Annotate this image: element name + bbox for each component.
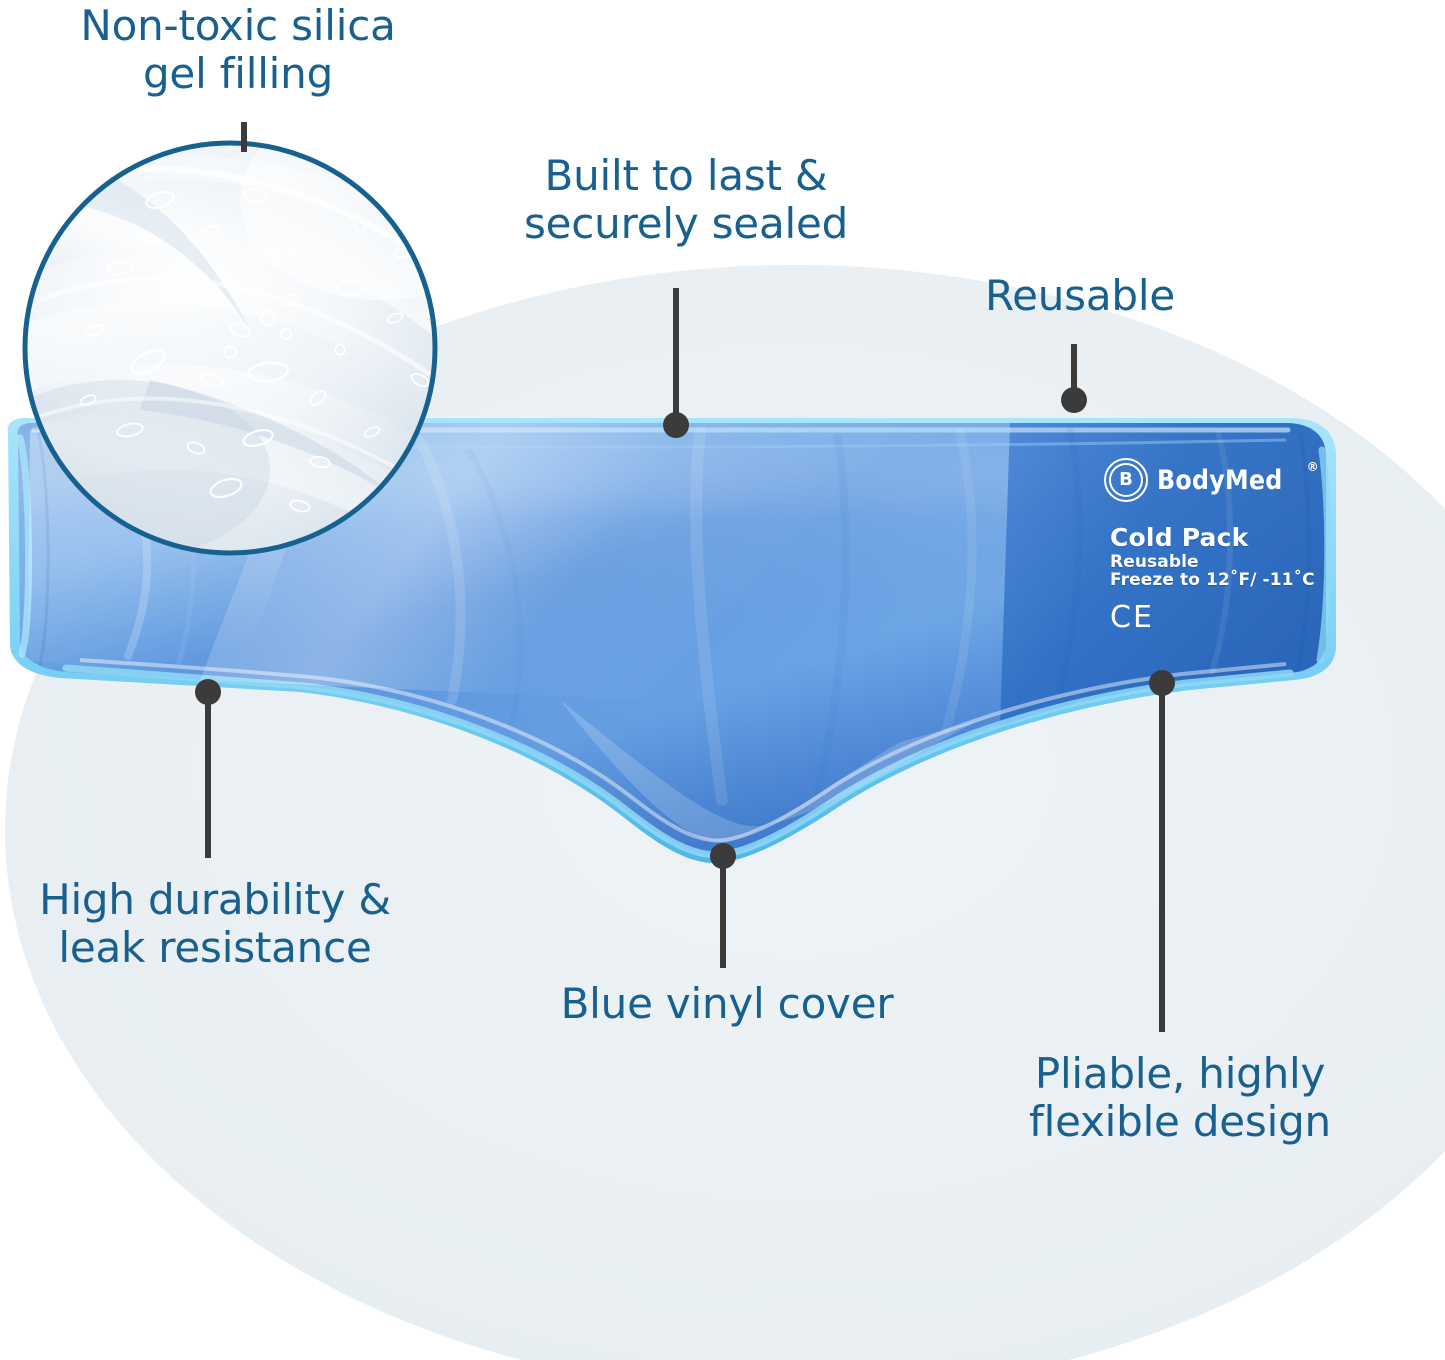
leader-dot-vinyl	[710, 843, 736, 869]
leader-dot-pliable	[1149, 670, 1175, 696]
leader-dot-built	[663, 412, 689, 438]
product-illustration-canvas	[0, 0, 1445, 1360]
leader-dot-reusable	[1061, 387, 1087, 413]
leader-dot-durability	[195, 679, 221, 705]
product-infographic: Non-toxic silica gel filling Built to la…	[0, 0, 1445, 1360]
